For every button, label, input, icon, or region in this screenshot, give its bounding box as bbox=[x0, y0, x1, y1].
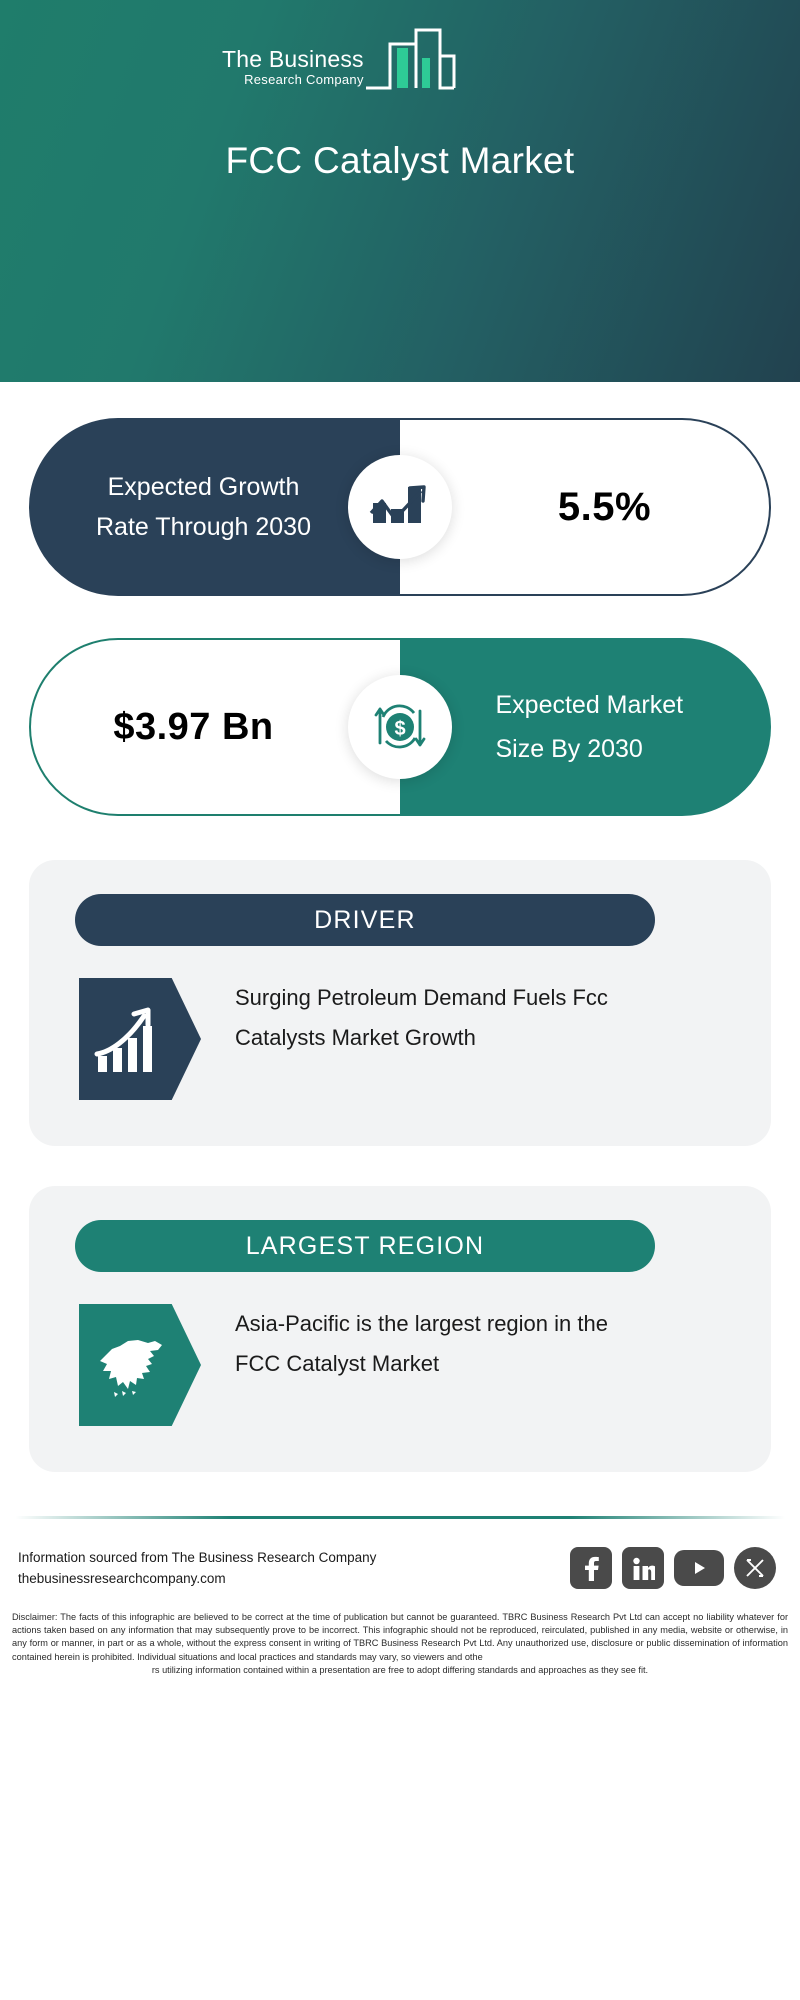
dollar-circulation-icon: $ bbox=[348, 675, 452, 779]
header-banner: The Business Research Company FCC Cataly… bbox=[0, 0, 800, 382]
company-logo: The Business Research Company bbox=[222, 26, 456, 92]
footer-source-website[interactable]: thebusinessresearchcompany.com bbox=[18, 1568, 376, 1589]
panel-body: Asia-Pacific is the largest region in th… bbox=[29, 1304, 771, 1426]
asia-pacific-map-icon bbox=[79, 1304, 201, 1426]
panel-body: Surging Petroleum Demand Fuels Fcc Catal… bbox=[29, 978, 771, 1100]
facebook-icon[interactable] bbox=[570, 1547, 612, 1589]
footer-source: Information sourced from The Business Re… bbox=[18, 1547, 376, 1589]
infographic-page: The Business Research Company FCC Cataly… bbox=[0, 0, 800, 2000]
youtube-icon[interactable] bbox=[674, 1550, 724, 1586]
stat-label: Expected Growth Rate Through 2030 bbox=[79, 467, 329, 547]
stat-value-panel: $3.97 Bn bbox=[29, 638, 400, 816]
panel-pill-label: DRIVER bbox=[314, 906, 416, 935]
panel-text: Surging Petroleum Demand Fuels Fcc Catal… bbox=[235, 978, 635, 1058]
footer-row: Information sourced from The Business Re… bbox=[0, 1519, 800, 1589]
stat-card-growth-rate: Expected Growth Rate Through 2030 5.5% bbox=[29, 418, 771, 596]
footer: Information sourced from The Business Re… bbox=[0, 1516, 800, 1677]
stat-value: $3.97 Bn bbox=[113, 706, 273, 749]
growth-chart-arrow-icon bbox=[348, 455, 452, 559]
disclaimer: Disclaimer: The facts of this infographi… bbox=[12, 1611, 788, 1677]
logo-wordmark: The Business Research Company bbox=[222, 46, 364, 92]
logo-line-1: The Business bbox=[222, 46, 364, 72]
panel-text: Asia-Pacific is the largest region in th… bbox=[235, 1304, 635, 1384]
panel-driver: DRIVER Surging Petroleum Demand Fuels Fc… bbox=[29, 860, 771, 1146]
linkedin-icon[interactable] bbox=[622, 1547, 664, 1589]
svg-text:$: $ bbox=[394, 718, 405, 740]
disclaimer-main: Disclaimer: The facts of this infographi… bbox=[12, 1612, 788, 1662]
stat-label-panel: Expected Market Size By 2030 bbox=[400, 638, 771, 816]
stat-label-panel: Expected Growth Rate Through 2030 bbox=[29, 418, 400, 596]
footer-source-line-1: Information sourced from The Business Re… bbox=[18, 1547, 376, 1568]
panel-pill-label: LARGEST REGION bbox=[246, 1232, 485, 1261]
stat-value: 5.5% bbox=[558, 485, 651, 530]
panel-largest-region: LARGEST REGION Asia-Pacific is the large… bbox=[29, 1186, 771, 1472]
bar-chart-logo-icon bbox=[364, 26, 456, 92]
stat-card-market-size: $3.97 Bn Expected Market Size By 2030 $ bbox=[29, 638, 771, 816]
stat-value-panel: 5.5% bbox=[400, 418, 771, 596]
panel-pill-largest-region: LARGEST REGION bbox=[75, 1220, 655, 1272]
disclaimer-last-line: rs utilizing information contained withi… bbox=[12, 1664, 788, 1677]
stat-cards: Expected Growth Rate Through 2030 5.5% $… bbox=[0, 418, 800, 816]
x-twitter-icon[interactable] bbox=[734, 1547, 776, 1589]
panel-pill-driver: DRIVER bbox=[75, 894, 655, 946]
stat-label: Expected Market Size By 2030 bbox=[496, 683, 706, 771]
logo-line-2: Research Company bbox=[244, 72, 364, 88]
social-links bbox=[570, 1547, 776, 1589]
page-title: FCC Catalyst Market bbox=[0, 140, 800, 182]
rising-bar-chart-arrow-icon bbox=[79, 978, 201, 1100]
